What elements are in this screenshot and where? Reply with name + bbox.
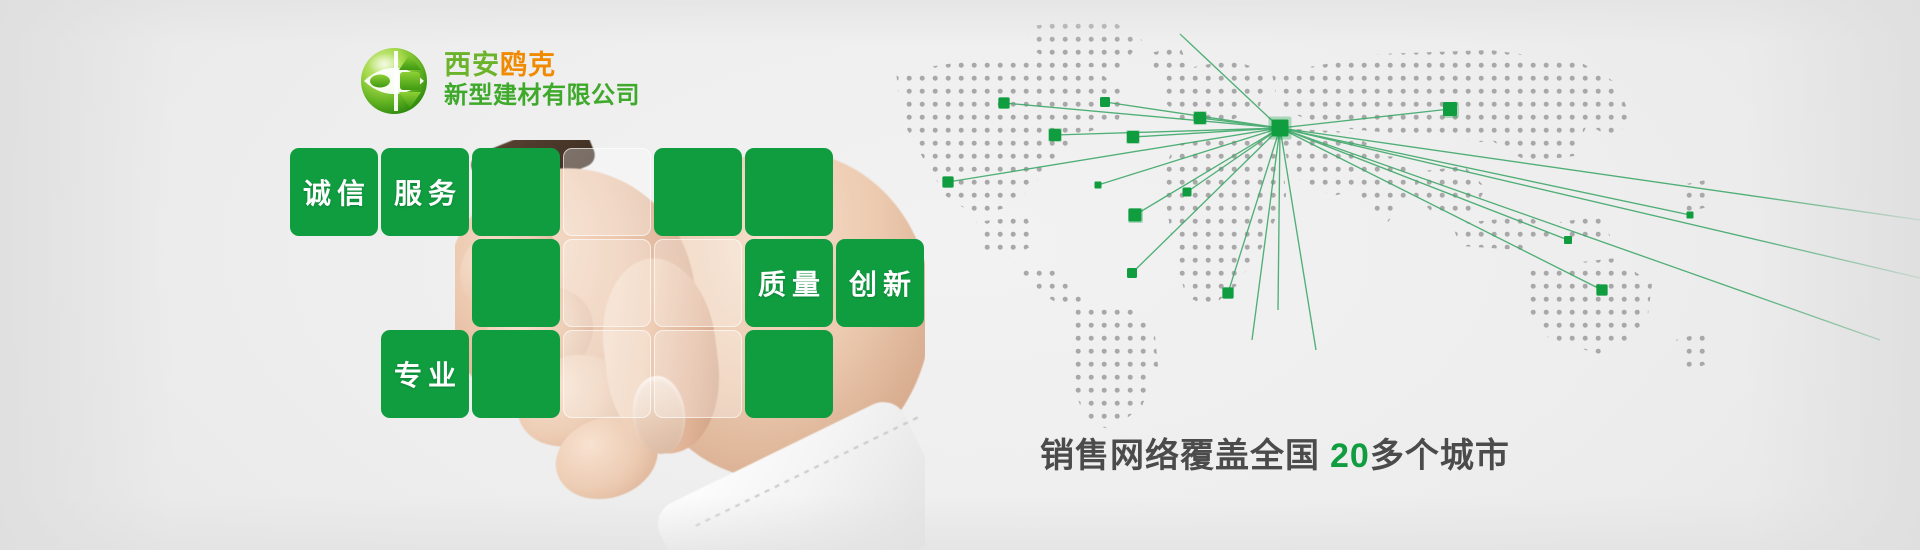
mosaic-tile-t23 bbox=[563, 330, 651, 418]
mosaic-tile-t02 bbox=[472, 148, 560, 236]
company-banner: 诚信服务质量创新专业 bbox=[0, 0, 1920, 550]
company-logo[interactable]: 西安鸥克 新型建材有限公司 bbox=[358, 45, 640, 117]
mosaic-tile-t05 bbox=[745, 148, 833, 236]
mosaic-tile-t04 bbox=[654, 148, 742, 236]
world-map-graphic bbox=[880, 10, 1920, 440]
mosaic-tile-t03 bbox=[563, 148, 651, 236]
green-globe-logo-icon bbox=[358, 45, 430, 117]
value-tile-zhiliang[interactable]: 质量 bbox=[745, 239, 833, 327]
tagline-prefix: 销售网络覆盖全国 bbox=[1040, 437, 1320, 475]
logo-brand-text: 鸥克 bbox=[500, 50, 556, 80]
value-tile-grid: 诚信服务质量创新专业 bbox=[290, 148, 910, 418]
value-tile-label: 专业 bbox=[381, 330, 469, 418]
value-tile-label: 诚信 bbox=[290, 148, 378, 236]
mosaic-tile-t13 bbox=[563, 239, 651, 327]
logo-wordmark: 西安鸥克 新型建材有限公司 bbox=[444, 50, 640, 113]
mosaic-tile-t24 bbox=[654, 330, 742, 418]
mosaic-tile-t12 bbox=[472, 239, 560, 327]
value-tile-fuwu[interactable]: 服务 bbox=[381, 148, 469, 236]
mosaic-tile-t14 bbox=[654, 239, 742, 327]
logo-city-text: 西安 bbox=[444, 50, 500, 80]
mosaic-tile-t22 bbox=[472, 330, 560, 418]
value-tile-label: 创新 bbox=[836, 239, 924, 327]
value-tile-label: 服务 bbox=[381, 148, 469, 236]
mosaic-tile-t25 bbox=[745, 330, 833, 418]
value-tile-zhuanye[interactable]: 专业 bbox=[381, 330, 469, 418]
sales-network-tagline: 销售网络覆盖全国20多个城市 bbox=[1040, 428, 1510, 477]
logo-subtitle: 新型建材有限公司 bbox=[444, 82, 640, 111]
value-tile-chengxin[interactable]: 诚信 bbox=[290, 148, 378, 236]
value-tile-chuangxin[interactable]: 创新 bbox=[836, 239, 924, 327]
value-tile-label: 质量 bbox=[745, 239, 833, 327]
tagline-suffix: 多个城市 bbox=[1370, 437, 1510, 475]
tagline-highlight-number: 20 bbox=[1330, 437, 1370, 475]
